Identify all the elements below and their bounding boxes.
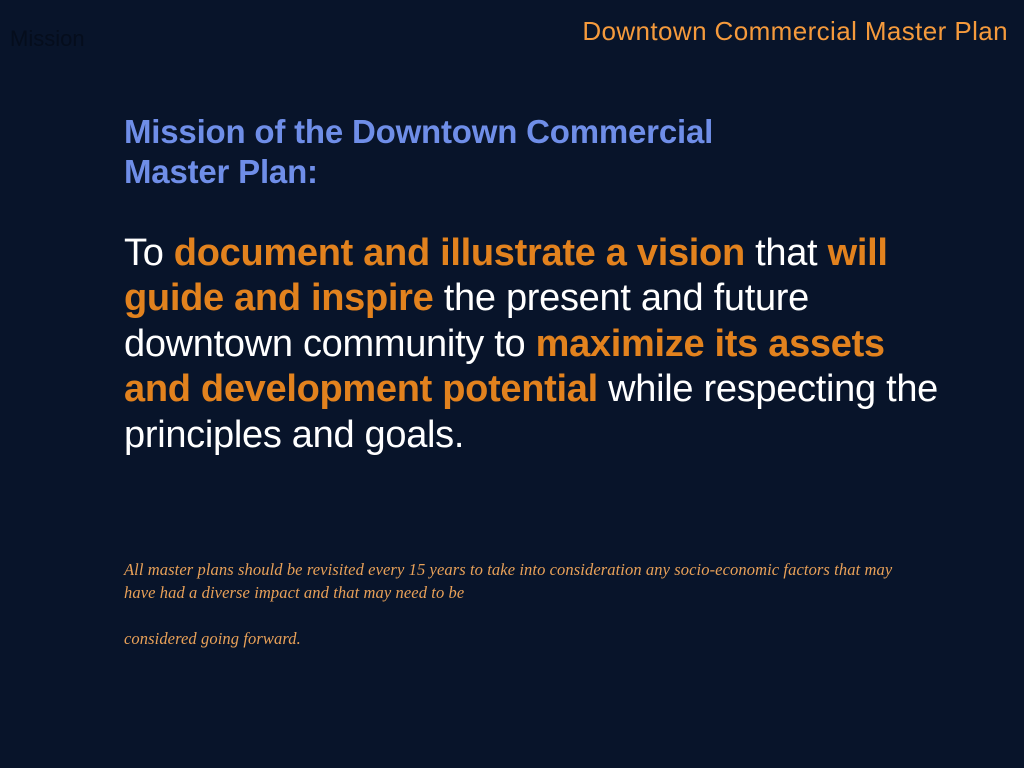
mission-run-plain-2: that (745, 232, 828, 274)
mission-run-highlight-1: document and illustrate a vision (174, 232, 745, 274)
page-title: Downtown Commercial Master Plan (582, 18, 1008, 44)
mission-statement: To document and illustrate a vision that… (124, 231, 942, 459)
footnote: All master plans should be revisited eve… (124, 558, 914, 650)
mission-run-plain-1: To (124, 232, 174, 274)
mission-heading: Mission of the Downtown Commercial Maste… (124, 112, 764, 193)
slide: Mission Downtown Commercial Master Plan … (0, 0, 1024, 768)
slide-content: Mission of the Downtown Commercial Maste… (124, 112, 954, 458)
footnote-paragraph-1: All master plans should be revisited eve… (124, 558, 914, 605)
slide-label: Mission (10, 28, 85, 50)
footnote-paragraph-2: considered going forward. (124, 627, 914, 650)
